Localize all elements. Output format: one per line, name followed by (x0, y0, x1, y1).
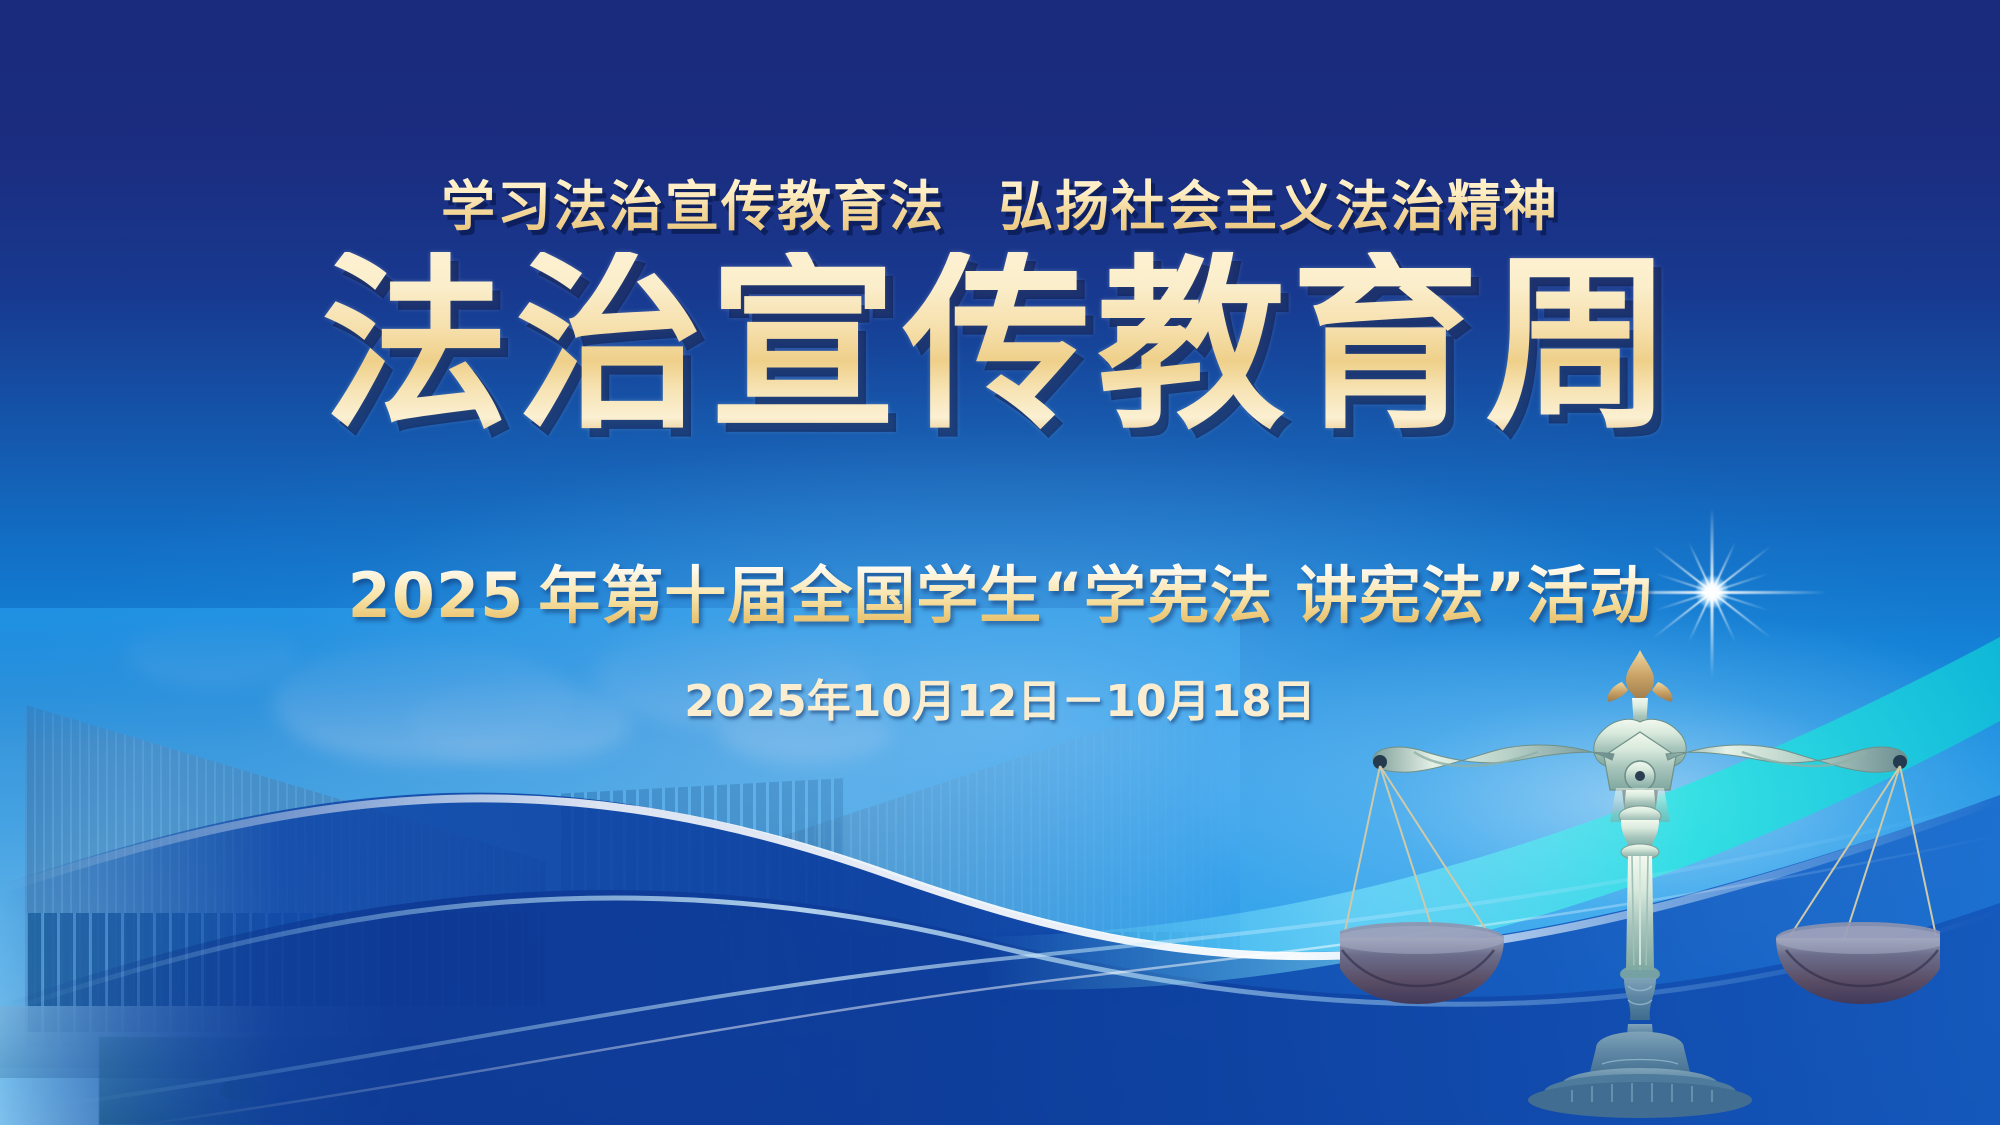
event-subtitle: 2025年第十届全国学生“学宪法 讲宪法”活动 (0, 545, 2000, 635)
subtitle-rest: 年第十届全国学生“学宪法 讲宪法”活动 (538, 559, 1652, 632)
subtitle-year: 2025 (348, 559, 525, 632)
slogan-right: 弘扬社会主义法治精神 (999, 175, 1559, 238)
text-layer: 学习法治宣传教育法弘扬社会主义法治精神 法治宣传教育周 2025年第十届全国学生… (0, 0, 2000, 1125)
main-title: 法治宣传教育周 (0, 252, 2000, 440)
date-range: 2025年10月12日－10月18日 (0, 665, 2000, 729)
slogan-left: 学习法治宣传教育法 (441, 175, 945, 238)
poster-canvas: 学习法治宣传教育法弘扬社会主义法治精神 法治宣传教育周 2025年第十届全国学生… (0, 0, 2000, 1125)
top-slogan: 学习法治宣传教育法弘扬社会主义法治精神 (0, 162, 2000, 241)
